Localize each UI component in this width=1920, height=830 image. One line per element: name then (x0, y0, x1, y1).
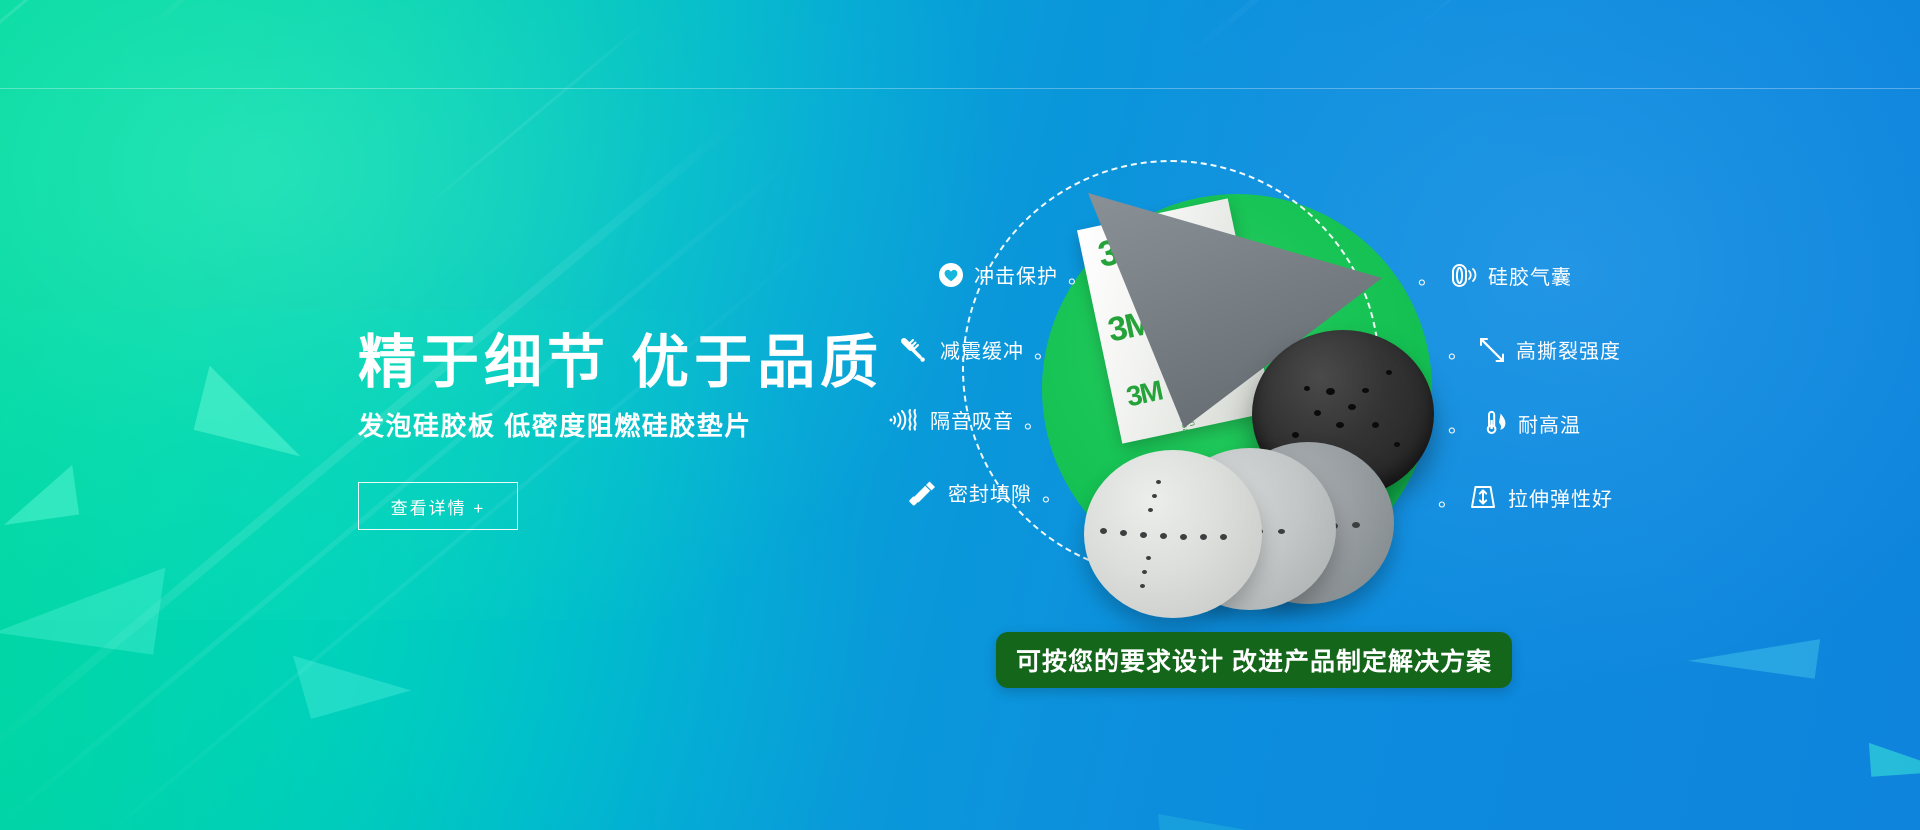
feature-dot: 。 (1438, 483, 1458, 512)
decorative-triangle (1158, 798, 1312, 830)
feature-dot: 。 (1418, 261, 1438, 290)
feature-item-impact-protection[interactable]: 冲击保护 。 (938, 260, 1088, 289)
feature-dot: 。 (1034, 335, 1054, 364)
decorative-streak (0, 0, 271, 99)
decorative-triangle (1869, 737, 1920, 776)
decorative-streak (0, 0, 370, 34)
page-title: 精于细节 优于品质 (358, 326, 918, 400)
decorative-streak (148, 0, 404, 28)
custom-solution-text: 可按您的要求设计 改进产品制定解决方案 (1016, 642, 1492, 678)
feature-label: 隔音吸音 (930, 405, 1014, 434)
feature-item-stretch-elasticity[interactable]: 。 拉伸弹性好 (1438, 482, 1613, 512)
shock-absorber-icon (900, 336, 930, 364)
hero-banner: 精于细节 优于品质 发泡硅胶板 低密度阻燃硅胶垫片 查看详情 + 3M 3M 3… (0, 0, 1920, 830)
white-perforated-disc (1084, 450, 1262, 618)
page-subtitle: 发泡硅胶板 低密度阻燃硅胶垫片 (358, 408, 918, 444)
feature-dot: 。 (1068, 260, 1088, 289)
feature-item-heat-resistance[interactable]: 。 耐高温 (1448, 408, 1581, 438)
feature-dot: 。 (1024, 405, 1044, 434)
airbag-icon (1448, 260, 1478, 290)
view-details-button[interactable]: 查看详情 + (358, 482, 518, 530)
shield-heart-icon (938, 262, 964, 288)
feature-dot: 。 (1448, 335, 1468, 364)
feature-label: 冲击保护 (974, 260, 1058, 289)
decorative-triangle (194, 366, 317, 457)
decorative-triangle (0, 545, 165, 654)
feature-label: 拉伸弹性好 (1508, 483, 1613, 512)
tear-strength-arrows-icon (1478, 336, 1506, 364)
top-divider-line (0, 88, 1920, 89)
feature-label: 减震缓冲 (940, 335, 1024, 364)
decorative-streak (419, 18, 651, 213)
product-image-cluster: 3M 3M 3M Double Coated Tape Adhesives & … (1000, 160, 1480, 620)
feature-label: 高撕裂强度 (1516, 335, 1621, 364)
feature-dot: 。 (1042, 478, 1062, 507)
decorative-streak (1399, 0, 1692, 43)
feature-item-gap-sealing[interactable]: 密封填隙 。 (908, 478, 1062, 507)
sound-wave-icon (888, 406, 920, 434)
thermometer-flame-icon (1478, 408, 1508, 438)
feature-label: 耐高温 (1518, 409, 1581, 438)
decorative-triangle (293, 627, 411, 719)
hero-copy-block: 精于细节 优于品质 发泡硅胶板 低密度阻燃硅胶垫片 查看详情 + (358, 326, 918, 530)
feature-label: 密封填隙 (948, 478, 1032, 507)
custom-solution-banner[interactable]: 可按您的要求设计 改进产品制定解决方案 (996, 632, 1512, 688)
decorative-triangle (1688, 621, 1820, 678)
feature-item-shock-absorption[interactable]: 减震缓冲 。 (900, 335, 1054, 364)
feature-item-tear-strength[interactable]: 。 (1448, 335, 1621, 364)
feature-item-silicone-airbag[interactable]: 。 硅胶气囊 (1418, 260, 1572, 290)
decorative-triangle (0, 465, 79, 525)
feature-dot: 。 (1448, 409, 1468, 438)
decorative-streak (1178, 0, 1580, 65)
feature-label: 硅胶气囊 (1488, 261, 1572, 290)
stretch-arrow-icon (1468, 482, 1498, 512)
feature-item-sound-insulation[interactable]: 隔音吸音 。 (888, 405, 1044, 434)
tape-brand-label: 3M (1124, 375, 1165, 414)
sealant-syringe-icon (908, 479, 938, 507)
